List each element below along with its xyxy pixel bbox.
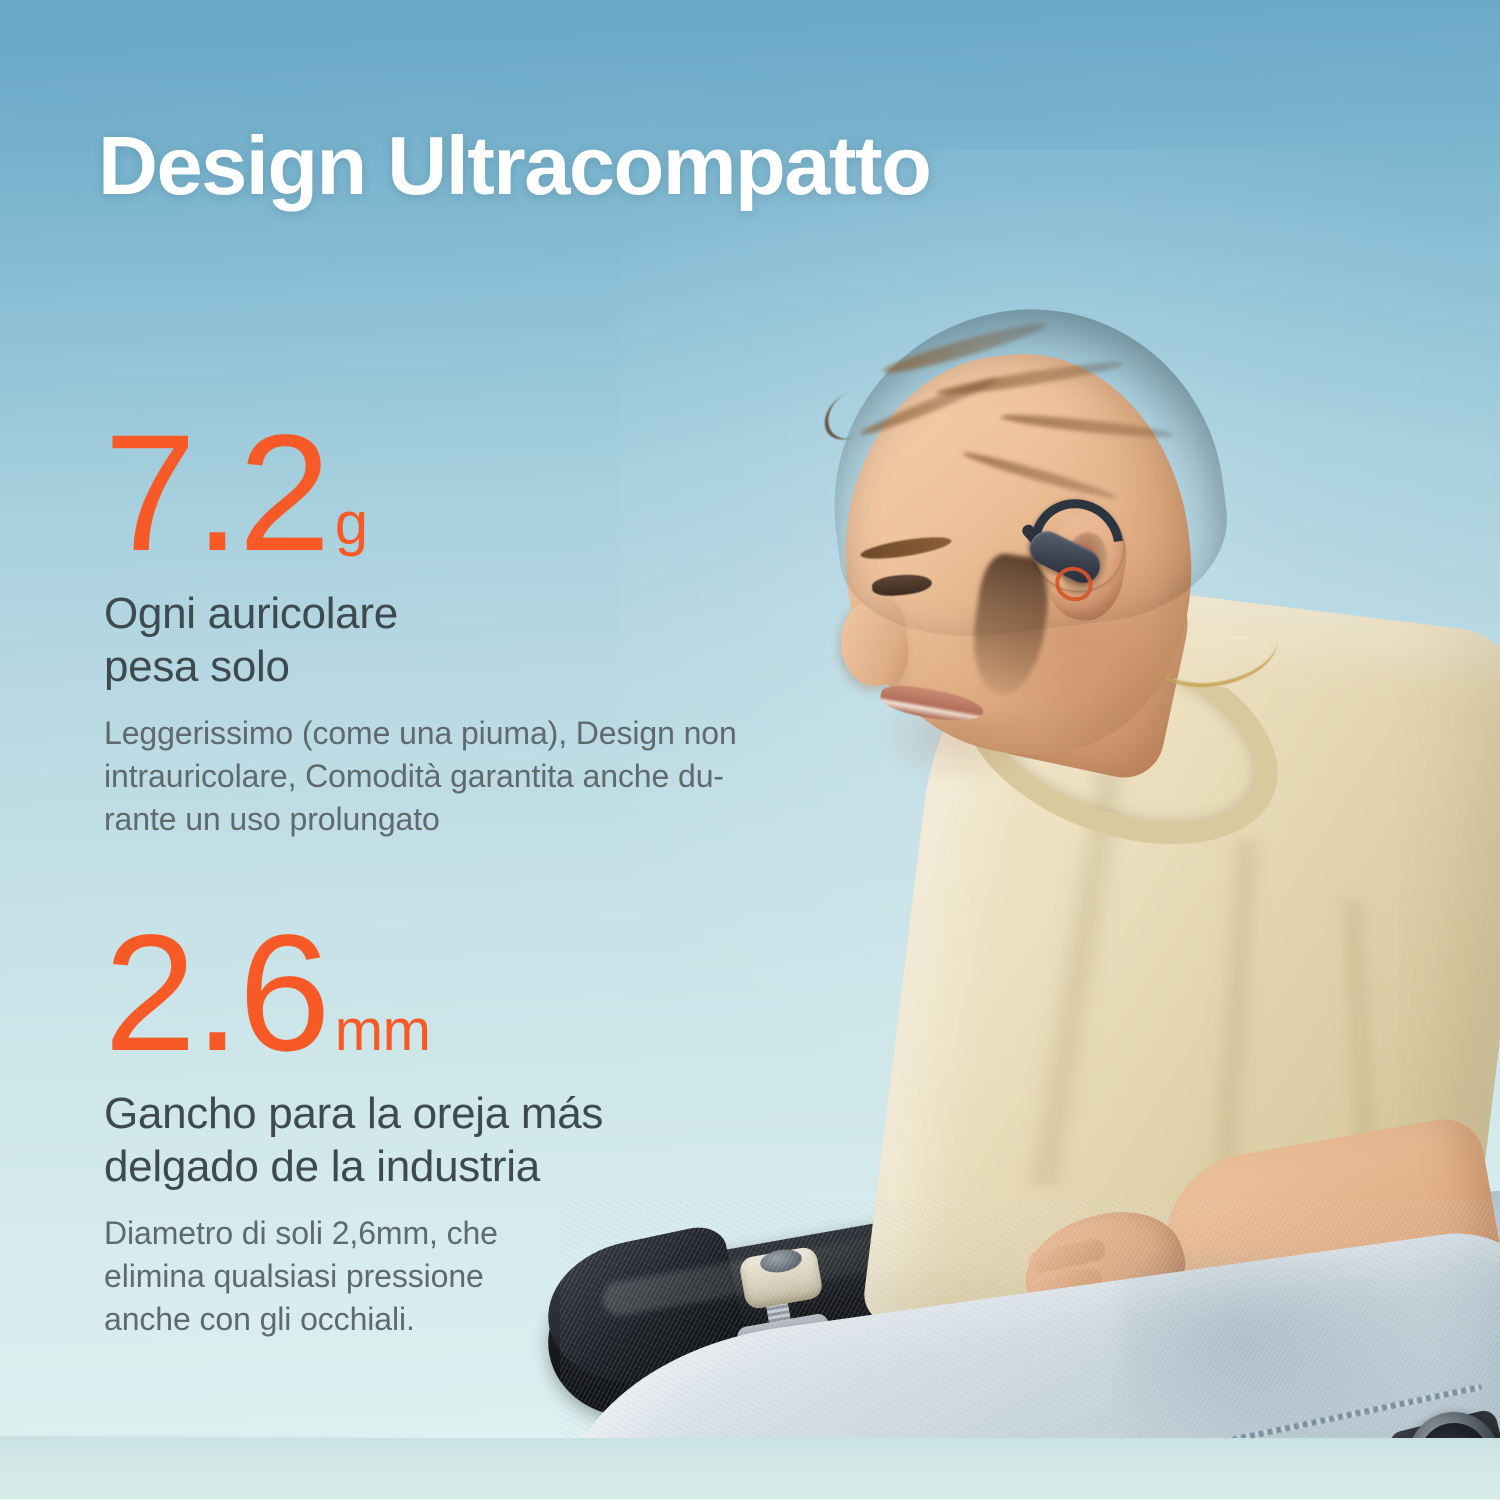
stat-block-hook-diameter: 2.6mm Gancho para la oreja más delgado d… xyxy=(104,915,603,1341)
stat-number: 2.6 xyxy=(104,915,329,1073)
stat-heading-hook-diameter: Gancho para la oreja más delgado de la i… xyxy=(104,1087,603,1194)
product-feature-banner: Design Ultracompatto 7.2g Ogni auricolar… xyxy=(0,0,1500,1500)
stat-unit: mm xyxy=(335,1002,431,1060)
text-content: Design Ultracompatto 7.2g Ogni auricolar… xyxy=(0,0,1500,1500)
stat-value-hook-diameter: 2.6mm xyxy=(104,915,603,1073)
page-title: Design Ultracompatto xyxy=(98,124,930,207)
stat-description-weight: Leggerissimo (come una piuma), Design no… xyxy=(104,712,737,841)
stat-heading-weight: Ogni auricolare pesa solo xyxy=(104,587,737,694)
stat-block-weight: 7.2g Ogni auricolare pesa solo Leggeriss… xyxy=(104,415,737,841)
stat-value-weight: 7.2g xyxy=(104,415,737,573)
stat-unit: g xyxy=(335,494,368,554)
stat-description-hook-diameter: Diametro di soli 2,6mm, che elimina qual… xyxy=(104,1212,603,1341)
stat-number: 7.2 xyxy=(104,415,329,573)
